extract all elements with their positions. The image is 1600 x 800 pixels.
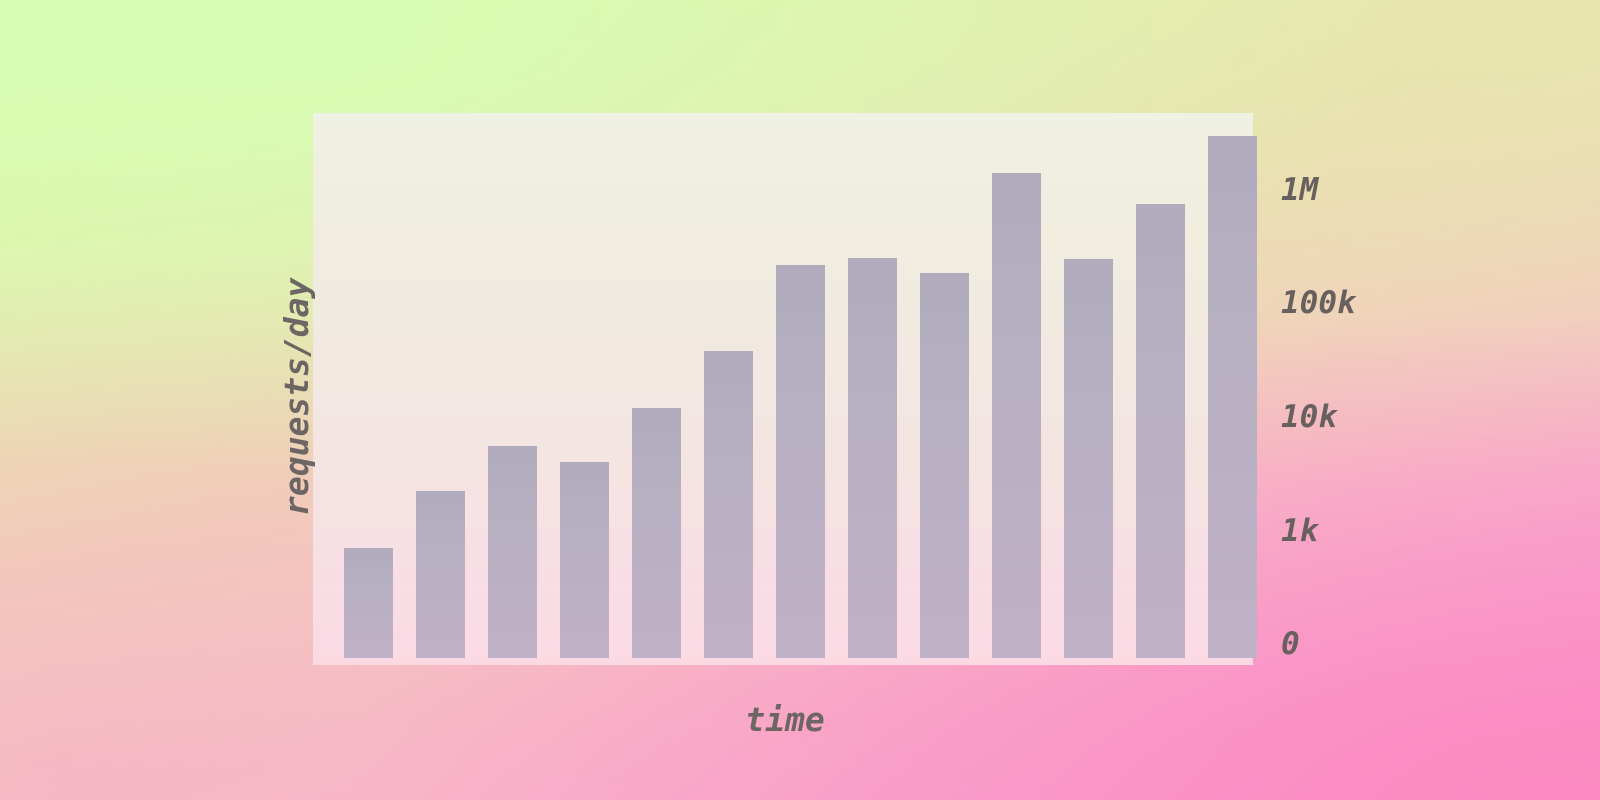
bar [632,408,681,658]
y-axis-tick-label: 0 [1281,626,1300,662]
bar [560,462,609,658]
bar [920,273,969,658]
plot-area [313,113,1253,665]
y-axis-title-text: requests/day [277,278,316,516]
x-axis-title: time [0,700,1570,739]
bar [776,265,825,658]
y-axis-tick-label: 10k [1281,399,1337,435]
bar [704,351,753,658]
y-axis-tick-label: 1k [1281,513,1318,549]
bar-series [313,113,1253,665]
bar [1136,204,1185,658]
y-axis-tick-label: 100k [1281,285,1356,321]
y-axis-title: requests/day [277,516,515,555]
bar [1208,136,1257,658]
y-axis-tick-label: 1M [1281,172,1318,208]
bar [1064,259,1113,658]
chart-figure: 1M100k10k1k0 requests/day time [0,0,1600,800]
x-axis-title-text: time [745,700,824,739]
bar [848,258,897,658]
bar [344,548,393,658]
bar [992,173,1041,658]
